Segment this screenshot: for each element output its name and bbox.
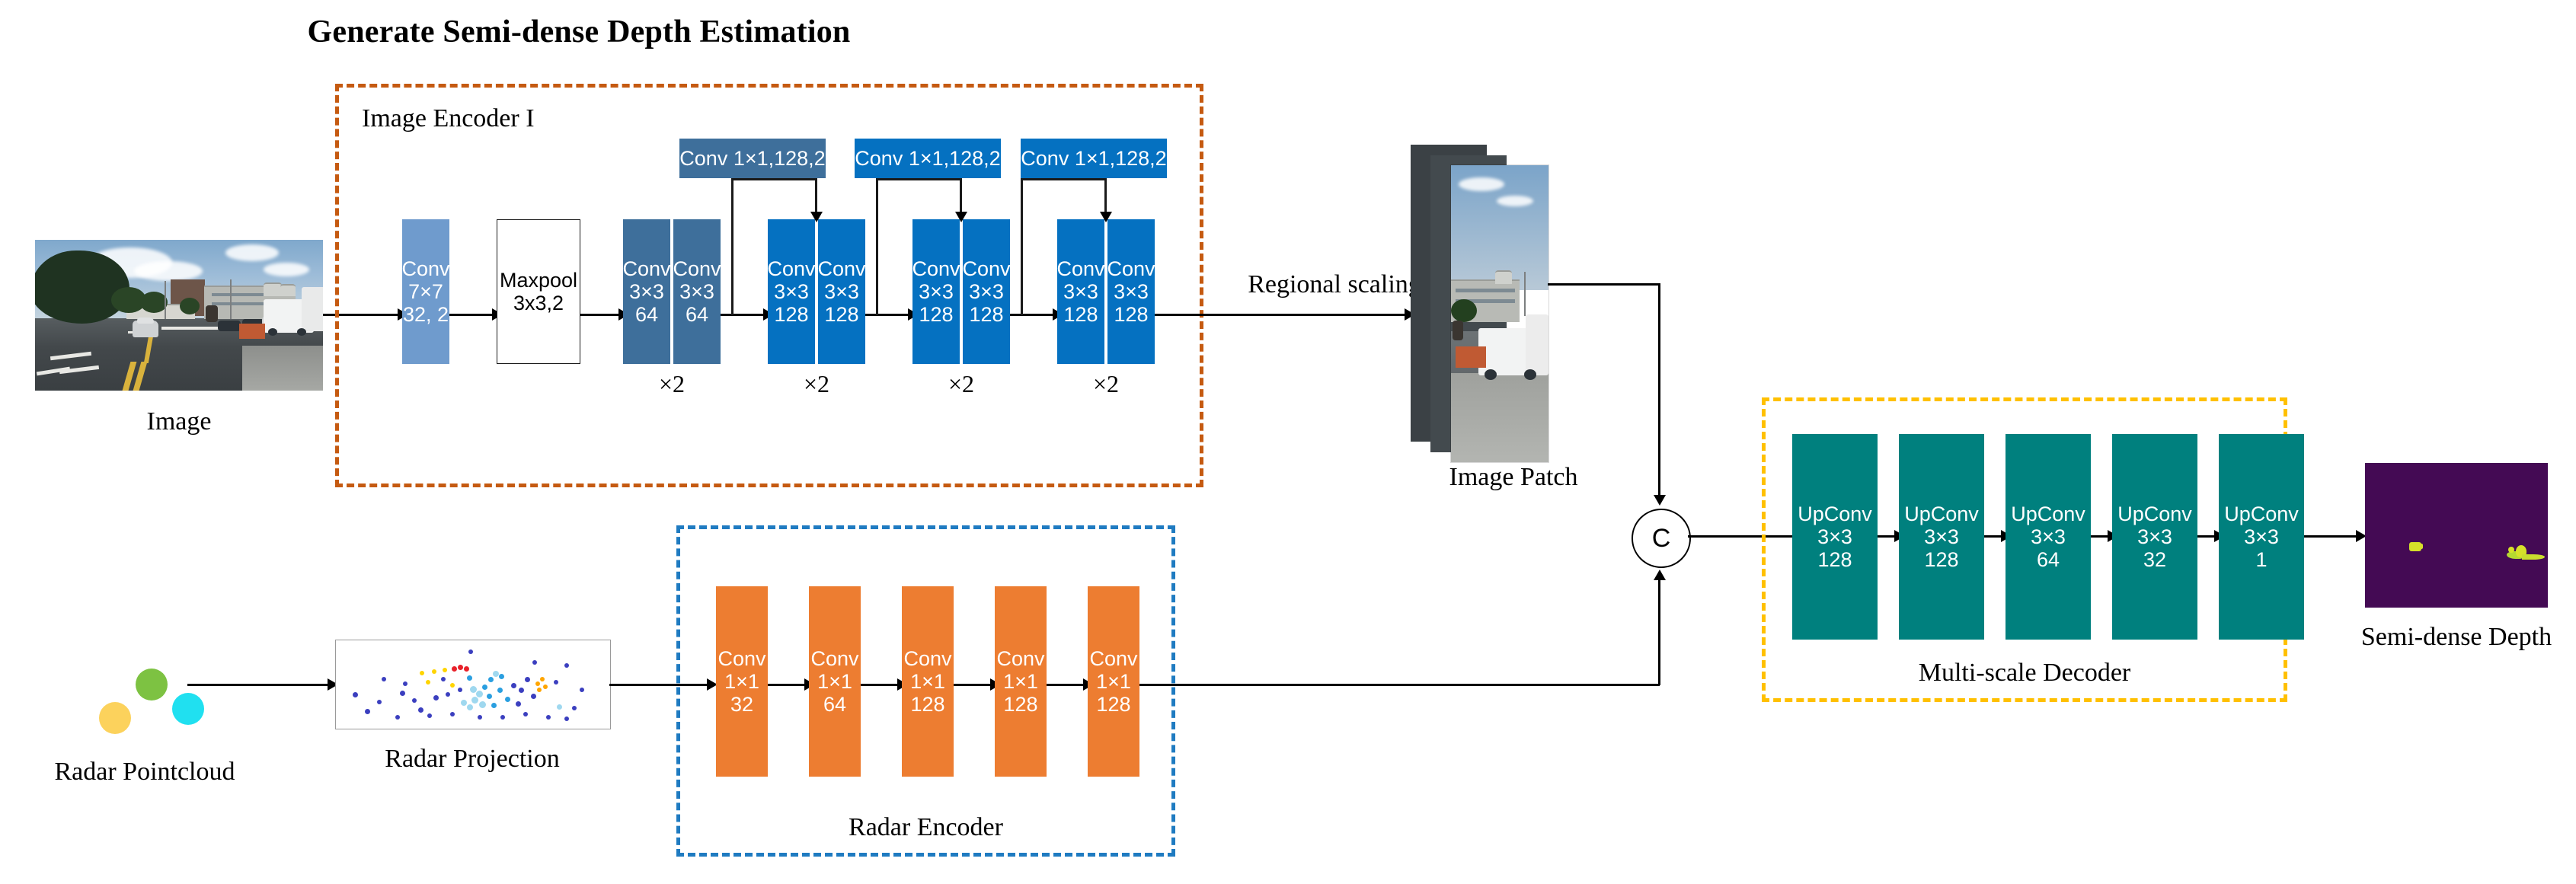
block-line: 3×3 [774, 280, 809, 303]
block-line: UpConv [1798, 503, 1872, 525]
block-line: 32, 2 [403, 303, 449, 326]
block-line: 64 [635, 303, 658, 326]
block-line: 128 [1817, 548, 1852, 571]
block-conv4a[interactable]: Conv 3×3 128 [912, 219, 960, 364]
arrowhead-radar-to-concat [1654, 570, 1666, 580]
skip-line-1-left [731, 178, 733, 315]
skip-line-2-right [960, 178, 962, 215]
block-line: 3×3 [919, 280, 954, 303]
block-maxpool[interactable]: Maxpool 3x3,2 [497, 219, 580, 364]
arrowhead-skip-2 [955, 212, 967, 222]
pointcloud-dot-green [136, 669, 168, 700]
block-line: 128 [1063, 303, 1098, 326]
block-line: 64 [823, 693, 846, 716]
block-line: Conv [401, 257, 449, 280]
block-line: Conv [673, 257, 721, 280]
skip-line-1-top [731, 178, 815, 180]
repeat-label-2: ×2 [768, 370, 865, 398]
radar-encoder-label: Radar Encoder [680, 813, 1171, 842]
block-line: 1×1 [1003, 670, 1038, 693]
arrow-conv3-conv4 [865, 314, 909, 316]
block-conv4b[interactable]: Conv 3×3 128 [963, 219, 1010, 364]
block-upconv1[interactable]: UpConv 3×3 128 [1792, 434, 1878, 640]
arrow-regional-scaling [1155, 314, 1406, 316]
block-line: 128 [1096, 693, 1130, 716]
block-line: 3×3 [2137, 525, 2172, 548]
block-line: 3×3 [824, 280, 859, 303]
skip-box-label: Conv 1×1,128,2 [855, 147, 1000, 171]
block-line: Conv [718, 647, 765, 670]
arrowhead-skip-1 [810, 212, 823, 222]
block-line: 3×3 [1114, 280, 1149, 303]
depth-blob-truck-tab [2418, 544, 2423, 549]
block-line: UpConv [2224, 503, 2299, 525]
semi-dense-depth-output [2365, 463, 2548, 608]
block-line: 3×3 [679, 280, 714, 303]
arrow-conv2-conv3 [721, 314, 765, 316]
block-line: 1×1 [910, 670, 945, 693]
pointcloud-dot-yellow [99, 702, 131, 734]
repeat-label-1: ×2 [623, 370, 721, 398]
block-line: Conv [810, 647, 858, 670]
image-patch-stack [1411, 139, 1616, 443]
skip-line-3-left [1021, 178, 1023, 315]
block-upconv4[interactable]: UpConv 3×3 32 [2112, 434, 2197, 640]
skip-line-2-left [876, 178, 878, 315]
skip-line-3-right [1104, 178, 1107, 215]
block-rconv2[interactable]: Conv 1×1 64 [809, 586, 861, 777]
arrow-rconv2-rconv3 [861, 684, 900, 686]
block-line: 128 [1924, 548, 1958, 571]
block-line: 1×1 [724, 670, 759, 693]
arrow-pointcloud-to-projection [187, 684, 331, 686]
arrow-decoder-to-depth [2304, 535, 2359, 538]
radar-projection-thumbnail [335, 640, 611, 729]
block-conv3b[interactable]: Conv 3×3 128 [818, 219, 865, 364]
line-radar-to-concat-v [1658, 579, 1660, 685]
concat-node[interactable]: C [1632, 509, 1691, 568]
block-line: 32 [730, 693, 753, 716]
concat-node-label: C [1652, 524, 1671, 554]
block-line: 7×7 [408, 280, 443, 303]
block-line: 3×3 [1063, 280, 1098, 303]
skip-line-3-top [1021, 178, 1104, 180]
skip-line-2-top [876, 178, 960, 180]
repeat-label-3: ×2 [912, 370, 1010, 398]
block-line: Conv [962, 257, 1010, 280]
block-conv2b[interactable]: Conv 3×3 64 [673, 219, 721, 364]
block-line: Conv [996, 647, 1044, 670]
block-conv5a[interactable]: Conv 3×3 128 [1057, 219, 1104, 364]
repeat-label-4: ×2 [1057, 370, 1155, 398]
block-line: Conv [622, 257, 670, 280]
skip-box-2[interactable]: Conv 1×1,128,2 [855, 139, 1001, 178]
input-image-thumbnail [35, 240, 323, 391]
image-encoder-label: Image Encoder I [362, 104, 535, 133]
decoder-label: Multi-scale Decoder [1766, 659, 2284, 688]
block-line: UpConv [1904, 503, 1979, 525]
depth-blob-vegetation-right [2522, 554, 2545, 560]
block-line: 128 [1003, 693, 1037, 716]
block-line: 128 [969, 303, 1003, 326]
line-radar-to-concat-h [1139, 684, 1660, 686]
line-patch-to-concat-v [1658, 283, 1660, 496]
block-line: 128 [910, 693, 944, 716]
block-line: 1 [2255, 548, 2267, 571]
block-conv1[interactable]: Conv 7×7 32, 2 [402, 219, 449, 364]
block-upconv5[interactable]: UpConv 3×3 1 [2219, 434, 2304, 640]
block-upconv3[interactable]: UpConv 3×3 64 [2006, 434, 2091, 640]
block-line: Conv [903, 647, 951, 670]
block-line: 3×3 [2244, 525, 2279, 548]
block-conv5b[interactable]: Conv 3×3 128 [1107, 219, 1155, 364]
block-line: 3x3,2 [513, 292, 564, 314]
block-line: 1×1 [1096, 670, 1131, 693]
block-line: 1×1 [817, 670, 852, 693]
block-line: 128 [919, 303, 953, 326]
block-line: 3×3 [629, 280, 664, 303]
block-line: 3×3 [2031, 525, 2066, 548]
block-line: Conv [1056, 257, 1104, 280]
block-conv3a[interactable]: Conv 3×3 128 [768, 219, 815, 364]
block-line: UpConv [2011, 503, 2085, 525]
pointcloud-dot-cyan [172, 693, 204, 725]
block-line: UpConv [2117, 503, 2192, 525]
caption-radar-pointcloud: Radar Pointcloud [30, 758, 259, 787]
arrowhead-patch-to-concat [1654, 495, 1666, 506]
block-line: Conv [1107, 257, 1155, 280]
block-upconv2[interactable]: UpConv 3×3 128 [1899, 434, 1984, 640]
skip-box-1[interactable]: Conv 1×1,128,2 [679, 139, 826, 178]
block-rconv1[interactable]: Conv 1×1 32 [716, 586, 768, 777]
block-line: Conv [912, 257, 960, 280]
block-rconv5[interactable]: Conv 1×1 128 [1088, 586, 1139, 777]
caption-radar-projection: Radar Projection [335, 745, 609, 774]
caption-image: Image [35, 407, 323, 436]
block-line: 128 [1114, 303, 1148, 326]
arrow-maxpool-conv2 [580, 314, 620, 316]
arrow-rconv1-rconv2 [768, 684, 807, 686]
arrow-rconv4-rconv5 [1047, 684, 1086, 686]
block-line: 64 [686, 303, 708, 326]
block-line: 64 [2037, 548, 2060, 571]
block-conv2a[interactable]: Conv 3×3 64 [623, 219, 670, 364]
skip-box-3[interactable]: Conv 1×1,128,2 [1021, 139, 1167, 178]
radar-pointcloud-illustration [69, 647, 221, 746]
block-line: Maxpool [500, 269, 577, 292]
block-rconv3[interactable]: Conv 1×1 128 [902, 586, 954, 777]
skip-box-label: Conv 1×1,128,2 [679, 147, 825, 171]
arrow-conv1-maxpool [449, 314, 494, 316]
block-line: Conv [767, 257, 815, 280]
skip-line-1-right [815, 178, 817, 215]
arrow-conv4-conv5 [1010, 314, 1054, 316]
block-line: 3×3 [1924, 525, 1959, 548]
block-line: 128 [824, 303, 858, 326]
caption-image-patch: Image Patch [1411, 463, 1616, 492]
block-line: 3×3 [969, 280, 1004, 303]
caption-semi-dense-depth: Semi-dense Depth [2342, 623, 2571, 652]
skip-box-label: Conv 1×1,128,2 [1021, 147, 1166, 171]
block-line: 128 [774, 303, 808, 326]
depth-blob-vegetation-small [2508, 547, 2514, 553]
block-line: Conv [817, 257, 865, 280]
arrowhead-skip-3 [1100, 212, 1112, 222]
block-rconv4[interactable]: Conv 1×1 128 [995, 586, 1047, 777]
line-patch-to-concat-h [1548, 283, 1660, 286]
arrow-rconv3-rconv4 [954, 684, 993, 686]
block-line: 3×3 [1817, 525, 1852, 548]
page-title: Generate Semi-dense Depth Estimation [0, 14, 1158, 50]
block-line: 32 [2143, 548, 2166, 571]
block-line: Conv [1089, 647, 1137, 670]
